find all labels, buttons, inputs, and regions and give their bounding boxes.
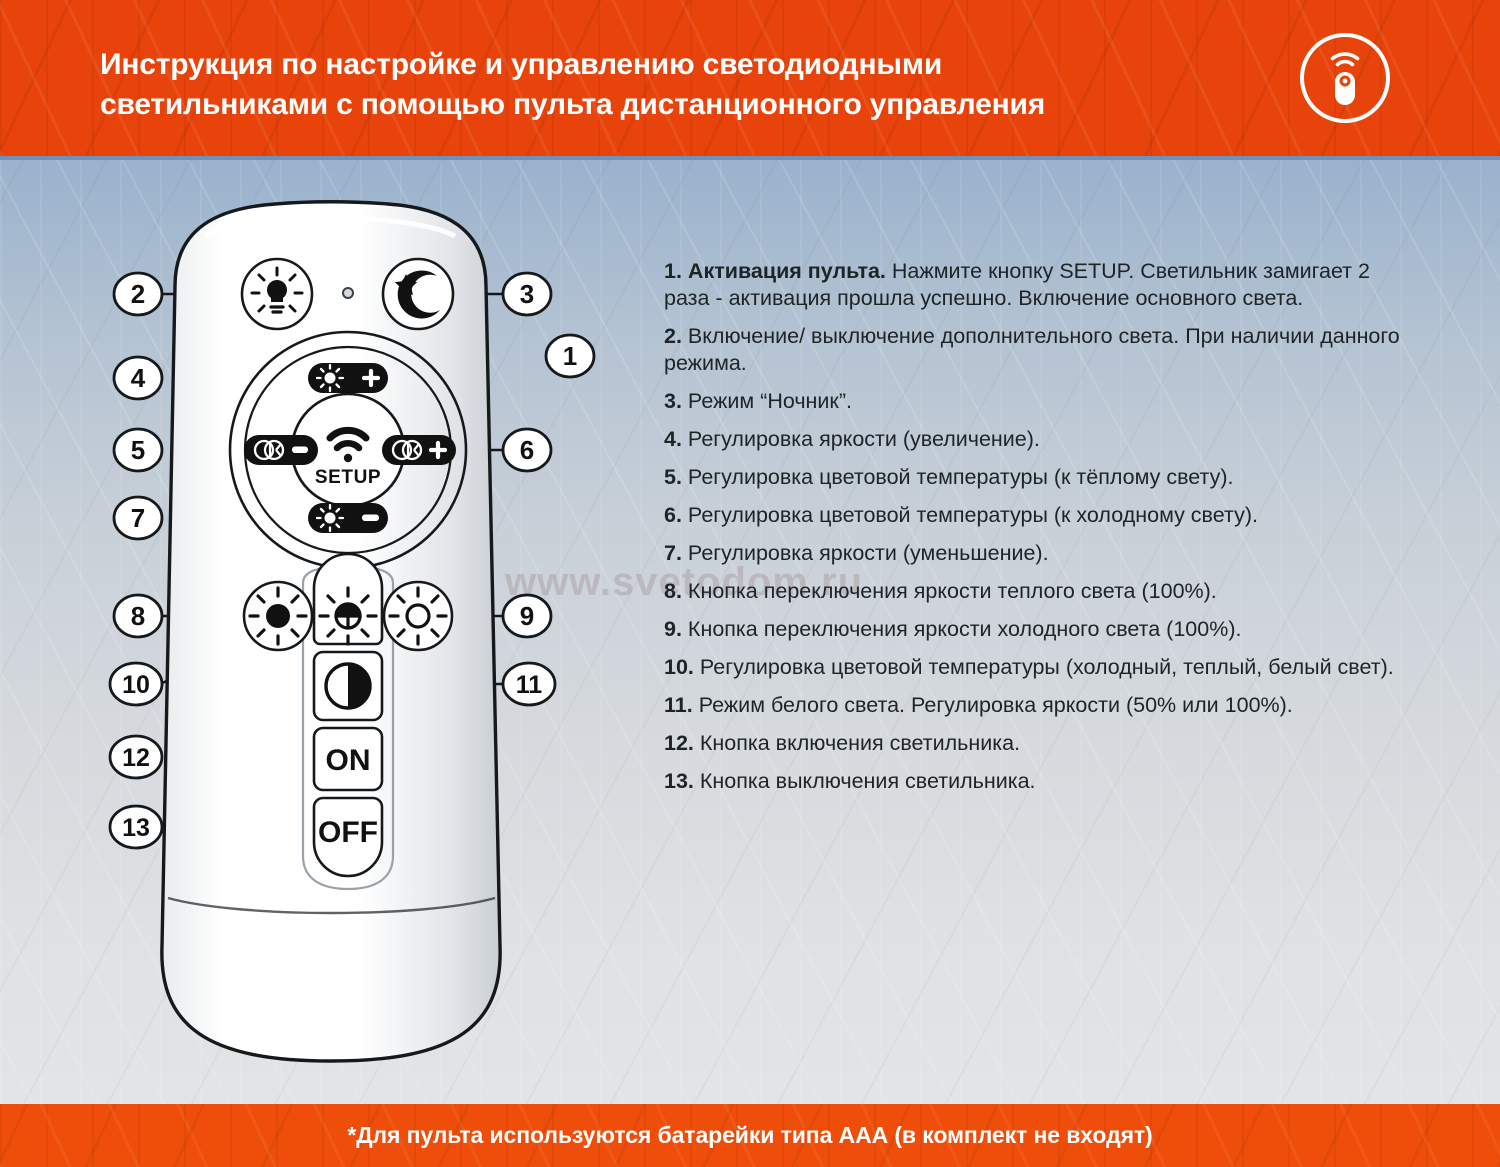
minus-sign <box>362 515 379 522</box>
warm-temp-button <box>244 435 318 465</box>
instruction-number: 11. <box>664 693 693 717</box>
svg-text:10: 10 <box>122 671 150 699</box>
svg-text:8: 8 <box>131 601 145 631</box>
white-light-button <box>314 652 382 720</box>
svg-text:13: 13 <box>122 814 150 842</box>
instruction-text: Регулировка цветовой температуры (холодн… <box>700 655 1394 679</box>
instruction-number: 5. <box>664 465 682 489</box>
instruction-item: 6. Регулировка цветовой температуры (к х… <box>664 502 1420 529</box>
svg-text:9: 9 <box>520 601 534 631</box>
instruction-number: 4. <box>664 427 682 451</box>
svg-text:6: 6 <box>520 435 534 465</box>
callout-10: 10 <box>110 663 162 705</box>
callout-13: 13 <box>110 806 162 848</box>
battery-note: *Для пульта используются батарейки типа … <box>0 1104 1500 1167</box>
callout-3: 3 <box>503 273 551 315</box>
instruction-number: 2. <box>664 324 682 348</box>
cool-100-button <box>384 582 452 650</box>
instruction-text: Кнопка переключения яркости теплого свет… <box>688 579 1217 603</box>
ir-indicator-dot <box>343 288 353 298</box>
instruction-text: Регулировка цветовой температуры (к тёпл… <box>688 465 1234 489</box>
instruction-item: 3. Режим “Ночник”. <box>664 388 1420 415</box>
callout-7: 7 <box>114 497 162 539</box>
instruction-item: 12. Кнопка включения светильника. <box>664 730 1420 757</box>
off-label: OFF <box>318 816 378 849</box>
instruction-item: 2. Включение/ выключение дополнительного… <box>664 323 1420 377</box>
instruction-lead: Активация пульта. <box>688 259 886 283</box>
instruction-text: Включение/ выключение дополнительного св… <box>664 324 1400 375</box>
power-on-button: ON <box>314 728 382 790</box>
instruction-list: 1. Активация пульта. Нажмите кнопку SETU… <box>664 258 1420 806</box>
remote-control-illustration: SETUP <box>0 156 660 1104</box>
instruction-item: 1. Активация пульта. Нажмите кнопку SETU… <box>664 258 1420 312</box>
svg-text:5: 5 <box>131 435 145 465</box>
instruction-number: 6. <box>664 503 682 527</box>
page-title: Инструкция по настройке и управлению све… <box>100 45 1260 125</box>
instruction-text: Регулировка цветовой температуры (к холо… <box>688 503 1258 527</box>
instruction-text: Режим “Ночник”. <box>688 389 852 413</box>
remote-control-signal-icon <box>1299 32 1391 124</box>
instruction-text: Кнопка включения светильника. <box>700 731 1020 755</box>
callout-6: 6 <box>503 429 551 471</box>
instruction-text: Регулировка яркости (увеличение). <box>688 427 1040 451</box>
infographic-page: Инструкция по настройке и управлению све… <box>0 0 1500 1167</box>
setup-label: SETUP <box>315 467 381 488</box>
callout-11: 11 <box>503 663 555 705</box>
instruction-text: Регулировка яркости (уменьшение). <box>688 541 1049 565</box>
svg-text:3: 3 <box>520 279 534 309</box>
instruction-number: 13. <box>664 769 694 793</box>
instruction-text: Режим белого света. Регулировка яркости … <box>699 693 1293 717</box>
instruction-number: 8. <box>664 579 682 603</box>
sun-filled-icon <box>250 588 306 644</box>
footer-bar: *Для пульта используются батарейки типа … <box>0 1104 1500 1167</box>
callout-4: 4 <box>114 357 162 399</box>
instruction-item: 11. Режим белого света. Регулировка ярко… <box>664 692 1420 719</box>
instruction-text: Кнопка выключения светильника. <box>700 769 1036 793</box>
instruction-number: 3. <box>664 389 682 413</box>
instruction-item: 13. Кнопка выключения светильника. <box>664 768 1420 795</box>
callout-5: 5 <box>114 429 162 471</box>
sun-plus-icon <box>317 365 343 391</box>
cool-temp-button <box>382 435 456 465</box>
callout-2: 2 <box>114 273 162 315</box>
svg-text:11: 11 <box>516 671 543 699</box>
instruction-number: 1. <box>664 259 682 283</box>
instruction-number: 10. <box>664 655 694 679</box>
sun-minus-icon <box>317 505 343 531</box>
svg-text:4: 4 <box>131 363 146 393</box>
on-label: ON <box>326 744 371 777</box>
callout-9: 9 <box>503 595 551 637</box>
instruction-number: 7. <box>664 541 682 565</box>
instruction-number: 9. <box>664 617 682 641</box>
minus-sign <box>292 447 308 454</box>
instruction-number: 12. <box>664 731 694 755</box>
extra-light-button <box>242 259 312 329</box>
svg-text:2: 2 <box>131 279 145 309</box>
power-off-button: OFF <box>314 798 382 876</box>
svg-text:12: 12 <box>122 744 150 772</box>
callout-8: 8 <box>114 595 162 637</box>
color-temp-cycle-button <box>314 554 382 644</box>
instruction-item: 10. Регулировка цветовой температуры (хо… <box>664 654 1420 681</box>
brightness-down-button <box>308 503 388 533</box>
brightness-up-button <box>308 363 388 393</box>
sun-half-icon <box>320 588 376 644</box>
instruction-item: 4. Регулировка яркости (увеличение). <box>664 426 1420 453</box>
callout-1: 1 <box>546 335 594 377</box>
instruction-item: 8. Кнопка переключения яркости теплого с… <box>664 578 1420 605</box>
instruction-item: 9. Кнопка переключения яркости холодного… <box>664 616 1420 643</box>
svg-text:1: 1 <box>563 341 577 371</box>
svg-text:7: 7 <box>131 503 145 533</box>
instruction-text: Кнопка переключения яркости холодного св… <box>688 617 1242 641</box>
instruction-item: 7. Регулировка яркости (уменьшение). <box>664 540 1420 567</box>
callout-12: 12 <box>110 736 162 778</box>
warm-100-button <box>244 582 312 650</box>
night-mode-button <box>383 259 453 329</box>
instruction-item: 5. Регулировка цветовой температуры (к т… <box>664 464 1420 491</box>
